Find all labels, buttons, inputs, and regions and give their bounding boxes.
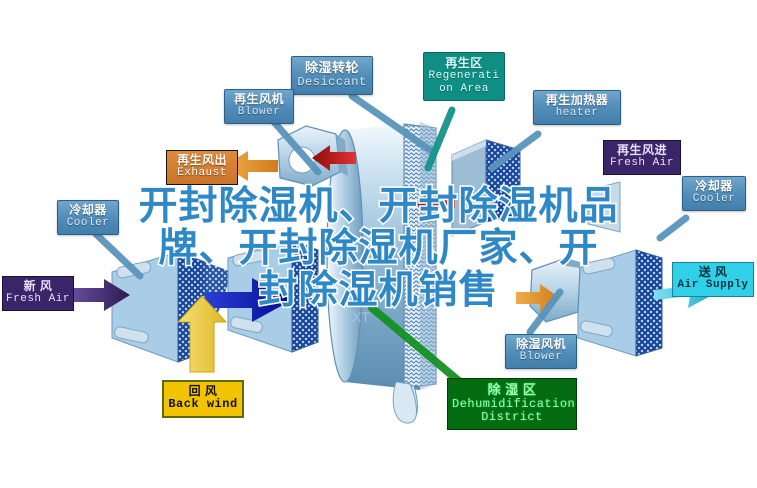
diagram-canvas: XT — [0, 0, 757, 488]
label-regeneration-air-in: 再生风进 Fresh Air — [603, 140, 681, 175]
label-exhaust: 再生风出 Exhaust — [166, 150, 238, 185]
label-fresh-air-in-cn: 新 风 — [6, 280, 70, 293]
label-dehumidification-district: 除 湿 区 Dehumidification District — [447, 378, 577, 430]
label-dehumidification-district-en2: District — [452, 411, 572, 424]
label-air-supply: 送 风 Air Supply — [672, 262, 754, 297]
label-regeneration-blower-en: Blower — [228, 106, 290, 118]
label-regeneration-area-en2: on Area — [426, 83, 502, 95]
label-regeneration-blower-cn: 再生风机 — [228, 93, 290, 106]
regeneration-cooler-right — [588, 182, 620, 232]
label-regeneration-area-cn: 再生区 — [426, 57, 502, 70]
label-cooler-right: 冷却器 Cooler — [682, 176, 746, 211]
label-desiccant-wheel-cn: 除湿转轮 — [296, 61, 368, 76]
label-regeneration-air-in-cn: 再生风进 — [607, 144, 677, 157]
supply-coil-right — [578, 250, 662, 356]
label-regeneration-heater-cn: 再生加热器 — [537, 94, 617, 107]
dehumidification-blower-housing — [530, 258, 580, 322]
label-cooler-right-cn: 冷却器 — [685, 180, 743, 193]
svg-text:XT: XT — [352, 309, 370, 325]
label-regeneration-area: 再生区 Regenerati on Area — [423, 52, 505, 101]
label-fresh-air-in-en: Fresh Air — [6, 293, 70, 305]
label-regeneration-heater: 再生加热器 heater — [533, 90, 621, 125]
label-desiccant-wheel: 除湿转轮 Desiccant — [291, 56, 373, 95]
label-dehumidification-blower-cn: 除湿风机 — [509, 338, 573, 351]
label-back-wind: 回 风 Back wind — [162, 380, 244, 418]
label-dehumidification-blower: 除湿风机 Blower — [505, 334, 577, 369]
label-regeneration-air-in-en: Fresh Air — [607, 157, 677, 169]
label-back-wind-en: Back wind — [167, 398, 239, 411]
label-exhaust-en: Exhaust — [169, 167, 235, 179]
label-cooler-right-en: Cooler — [685, 193, 743, 205]
label-dehumidification-district-en: Dehumidification — [452, 398, 572, 411]
label-back-wind-cn: 回 风 — [167, 385, 239, 398]
label-exhaust-cn: 再生风出 — [169, 154, 235, 167]
label-air-supply-en: Air Supply — [675, 279, 751, 291]
label-regeneration-blower: 再生风机 Blower — [224, 89, 294, 124]
label-cooler-left-en: Cooler — [60, 217, 116, 229]
label-dehumidification-blower-en: Blower — [509, 351, 573, 363]
label-cooler-left: 冷却器 Cooler — [57, 200, 119, 235]
label-regeneration-heater-en: heater — [537, 107, 617, 119]
label-air-supply-cn: 送 风 — [675, 266, 751, 279]
label-fresh-air-in: 新 风 Fresh Air — [2, 276, 74, 311]
label-regeneration-area-en: Regenerati — [426, 70, 502, 82]
label-cooler-left-cn: 冷却器 — [60, 204, 116, 217]
label-dehumidification-district-cn: 除 湿 区 — [452, 383, 572, 398]
label-desiccant-wheel-en: Desiccant — [296, 76, 368, 89]
machinery-illustration: XT — [0, 0, 757, 488]
